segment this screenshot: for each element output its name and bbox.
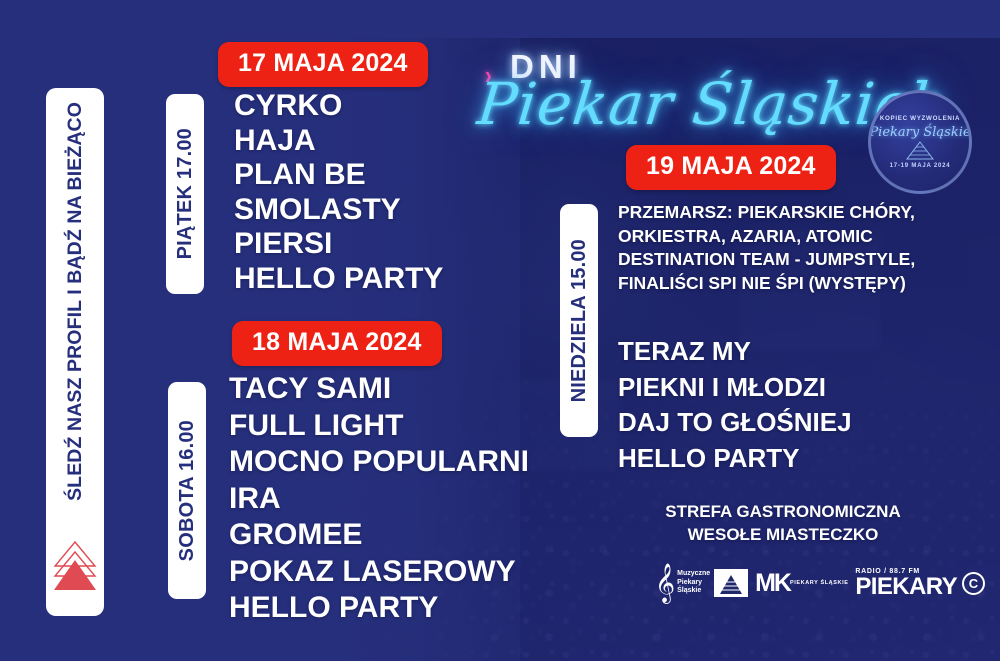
lineup-item: SMOLASTY <box>234 193 443 228</box>
mound-icon <box>716 573 746 597</box>
time-pill-friday: PIĄTEK 17.00 <box>166 94 204 294</box>
sponsor-muzyczne-line3: Śląskie <box>677 587 710 596</box>
lineup-item: TERAZ MY <box>618 334 852 370</box>
bottom-info: STREFA GASTRONOMICZNA WESOŁE MIASTECZKO <box>618 500 948 546</box>
triangle-logo <box>52 540 98 598</box>
bottom-info-line2: WESOŁE MIASTECZKO <box>618 523 948 546</box>
time-pill-sunday-label: NIEDZIELA 15.00 <box>568 239 591 402</box>
sponsor-muzyczne-text: Muzyczne Piekary Śląskie <box>677 570 710 596</box>
sponsor-mk: MK PIEKARY ŚLĄSKIE <box>755 571 848 595</box>
social-banner-label: ŚLEDŹ NASZ PROFIL I BĄDŹ NA BIEŻĄCO <box>64 102 87 501</box>
date-pill-friday: 17 MAJA 2024 <box>218 42 428 87</box>
time-pill-saturday-label: SOBOTA 16.00 <box>176 420 199 561</box>
time-pill-saturday: SOBOTA 16.00 <box>168 382 206 599</box>
lineup-item: FULL LIGHT <box>229 408 529 445</box>
lineup-sunday: TERAZ MY PIEKNI I MŁODZI DAJ TO GŁOŚNIEJ… <box>618 334 852 476</box>
lineup-item: HELLO PARTY <box>234 262 443 297</box>
time-pill-sunday: NIEDZIELA 15.00 <box>560 204 598 437</box>
date-pill-saturday: 18 MAJA 2024 <box>232 321 442 366</box>
sponsor-radio-circle-icon: C <box>962 572 985 595</box>
lineup-friday: CYRKO HAJA PLAN BE SMOLASTY PIERSI HELLO… <box>234 89 443 296</box>
badge-date-text: 17-19 MAJA 2024 <box>890 163 951 169</box>
lineup-item: HELLO PARTY <box>618 441 852 477</box>
lineup-item: GROMEE <box>229 517 529 554</box>
sponsor-radio-main: PIEKARY <box>855 575 957 598</box>
event-badge: KOPIEC WYZWOLENIA Piekary Śląskie 17-19 … <box>868 90 972 194</box>
social-side-banner[interactable]: ŚLEDŹ NASZ PROFIL I BĄDŹ NA BIEŻĄCO <box>46 88 104 616</box>
lineup-item: HELLO PARTY <box>229 590 529 627</box>
lineup-item: TACY SAMI <box>229 371 529 408</box>
date-pill-sunday: 19 MAJA 2024 <box>626 145 836 190</box>
lineup-item: IRA <box>229 481 529 518</box>
sponsor-radio-piekary: RADIO / 88.7 FM PIEKARY C <box>855 568 985 598</box>
lineup-item: PIERSI <box>234 227 443 262</box>
lineup-item: PIEKNI I MŁODZI <box>618 370 852 406</box>
sponsor-muzyczne-line2: Piekary <box>677 579 710 588</box>
lineup-item: POKAZ LASEROWY <box>229 554 529 591</box>
sponsor-muzyczne-line1: Muzyczne <box>677 570 710 579</box>
lineup-item: MOCNO POPULARNI <box>229 444 529 481</box>
sponsor-muzyczne-piekary: 𝄞 Muzyczne Piekary Śląskie <box>655 566 748 600</box>
sponsor-logos: 𝄞 Muzyczne Piekary Śląskie MK PIEKARY ŚL… <box>655 558 985 608</box>
lineup-item: PLAN BE <box>234 158 443 193</box>
sponsor-mk-mark: MK <box>755 571 790 595</box>
lineup-item: HAJA <box>234 124 443 159</box>
bottom-info-line1: STREFA GASTRONOMICZNA <box>618 500 948 523</box>
mound-icon <box>900 141 940 161</box>
sponsor-mk-sub: PIEKARY ŚLĄSKIE <box>790 580 849 586</box>
sponsor-mound-box <box>714 569 748 597</box>
badge-top-text: KOPIEC WYZWOLENIA <box>880 115 960 122</box>
time-pill-friday-label: PIĄTEK 17.00 <box>174 128 197 259</box>
top-solid-band <box>0 0 1000 38</box>
badge-script-text: Piekary Śląskie <box>869 125 970 140</box>
lineup-item: DAJ TO GŁOŚNIEJ <box>618 405 852 441</box>
event-poster: ŚLEDŹ NASZ PROFIL I BĄDŹ NA BIEŻĄCO › DN… <box>0 0 1000 661</box>
sponsor-radio-text: RADIO / 88.7 FM PIEKARY <box>855 568 957 598</box>
treble-clef-icon: 𝄞 <box>655 566 675 600</box>
lineup-item: CYRKO <box>234 89 443 124</box>
sunday-description: PRZEMARSZ: PIEKARSKIE CHÓRY, ORKIESTRA, … <box>618 201 940 295</box>
lineup-saturday: TACY SAMI FULL LIGHT MOCNO POPULARNI IRA… <box>229 371 529 627</box>
